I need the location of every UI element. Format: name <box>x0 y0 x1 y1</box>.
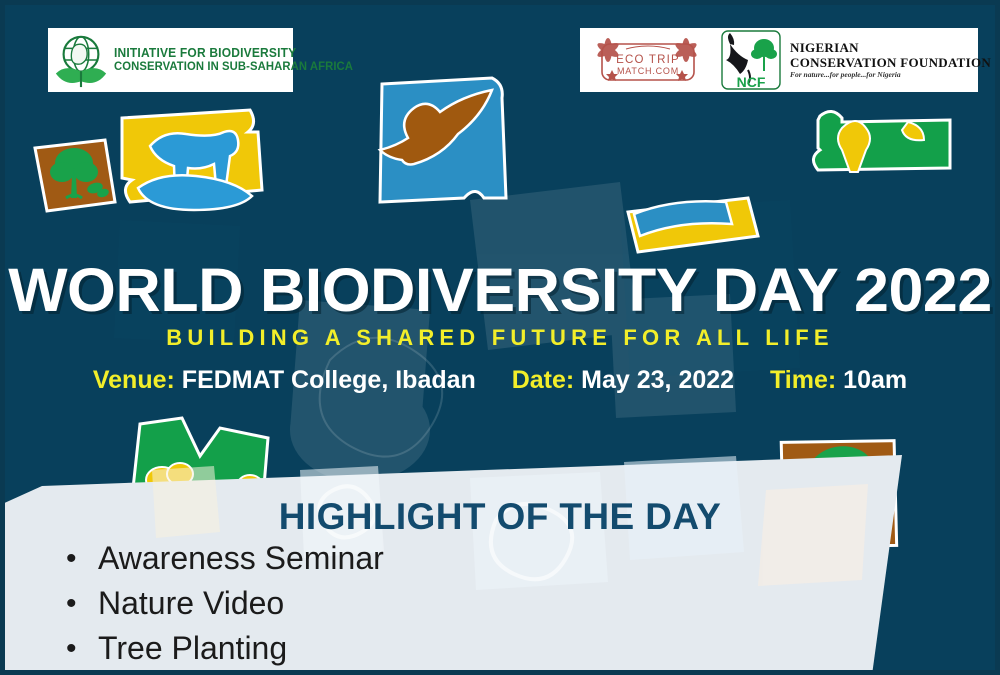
list-item: Nature Video <box>62 581 384 626</box>
venue-value: FEDMAT College, Ibadan <box>182 366 476 394</box>
highlight-list: Awareness Seminar Nature Video Tree Plan… <box>62 536 384 671</box>
logo-ncf-line1: NIGERIAN <box>790 40 991 55</box>
globe-leaf-logo-icon <box>52 31 110 89</box>
event-details: Venue: FEDMAT College, Ibadan Date: May … <box>0 366 1000 395</box>
page-title: WORLD BIODIVERSITY DAY 2022 <box>0 255 1000 325</box>
svg-text:NCF: NCF <box>737 74 766 90</box>
page-subtitle: BUILDING A SHARED FUTURE FOR ALL LIFE <box>0 325 1000 351</box>
highlight-heading: HIGHLIGHT OF THE DAY <box>0 496 1000 538</box>
logo-left-line2: CONSERVATION IN SUB-SAHARAN AFRICA <box>114 60 353 72</box>
date-value: May 23, 2022 <box>581 366 734 394</box>
poster-canvas: INITIATIVE FOR BIODIVERSITY CONSERVATION… <box>0 0 1000 675</box>
time-label: Time: <box>770 366 836 394</box>
svg-text:ECO TRIP: ECO TRIP <box>616 54 680 66</box>
ncf-antelope-tree-logo-icon: NCF <box>720 30 782 90</box>
logo-ncf-text: NIGERIAN CONSERVATION FOUNDATION For nat… <box>790 40 991 81</box>
date-label: Date: <box>512 366 575 394</box>
logo-bar-right: ECO TRIP MATCH.COM NCF NIGERIAN CONSERVA… <box>580 28 978 92</box>
logo-ncf-tagline: For nature...for people...for Nigeria <box>790 71 991 80</box>
logo-ncf-line2: CONSERVATION FOUNDATION <box>790 55 991 70</box>
flower-stamp-logo-icon: ECO TRIP MATCH.COM <box>584 30 712 90</box>
logo-left-text: INITIATIVE FOR BIODIVERSITY CONSERVATION… <box>114 47 368 72</box>
venue-label: Venue: <box>93 366 175 394</box>
logo-initiative-for-biodiversity: INITIATIVE FOR BIODIVERSITY CONSERVATION… <box>48 28 293 92</box>
time-value: 10am <box>843 366 907 394</box>
list-item: Tree Planting <box>62 626 384 671</box>
list-item: Awareness Seminar <box>62 536 384 581</box>
svg-text:MATCH.COM: MATCH.COM <box>617 66 679 76</box>
